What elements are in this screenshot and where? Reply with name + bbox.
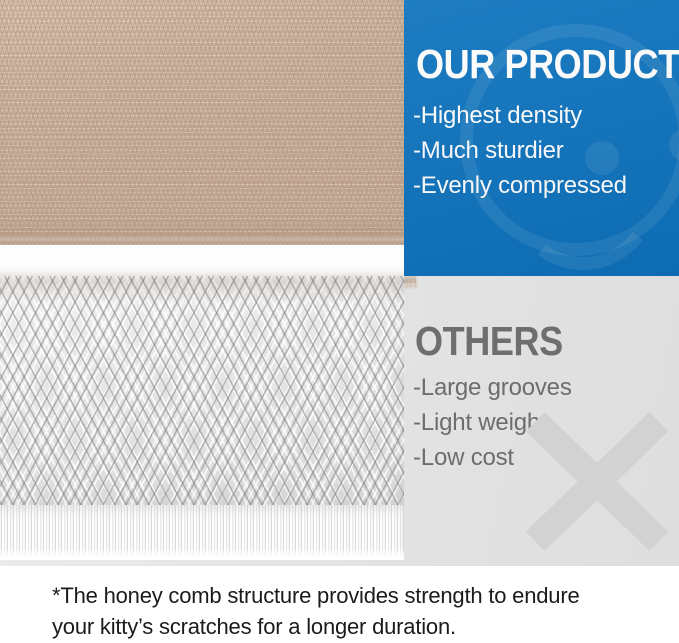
caption-line-1: *The honey comb structure provides stren… xyxy=(52,580,641,611)
smiley-eye-right-icon xyxy=(669,129,679,161)
our-product-heading: OUR PRODUCT xyxy=(416,40,679,88)
product-comparison-infographic: OUR PRODUCT -Highest density -Much sturd… xyxy=(0,0,679,643)
others-feature-item: -Large grooves xyxy=(413,370,572,405)
our-product-feature-item: -Much sturdier xyxy=(413,133,627,168)
others-feature-item: -Low cost xyxy=(413,440,572,475)
others-feature-list: -Large grooves -Light weight -Low cost xyxy=(413,370,572,475)
others-heading: OTHERS xyxy=(415,318,563,364)
tan-honeycomb-rug-pad xyxy=(0,0,416,245)
our-product-feature-item: -Highest density xyxy=(413,98,627,133)
our-product-feature-item: -Evenly compressed xyxy=(413,168,627,203)
grey-open-weave-rug-pad xyxy=(0,276,404,516)
caption: *The honey comb structure provides stren… xyxy=(0,566,679,643)
caption-line-2: your kitty’s scratches for a longer dura… xyxy=(52,611,641,642)
others-panel: OTHERS -Large grooves -Light weight -Low… xyxy=(404,300,679,530)
photo-area: OUR PRODUCT -Highest density -Much sturd… xyxy=(0,0,679,566)
our-product-panel: OUR PRODUCT -Highest density -Much sturd… xyxy=(404,0,679,276)
grey-rug-fringe-edge xyxy=(0,505,404,560)
our-product-feature-list: -Highest density -Much sturdier -Evenly … xyxy=(413,98,627,203)
tan-rug-drop-shadow xyxy=(0,278,404,304)
others-feature-item: -Light weight xyxy=(413,405,572,440)
